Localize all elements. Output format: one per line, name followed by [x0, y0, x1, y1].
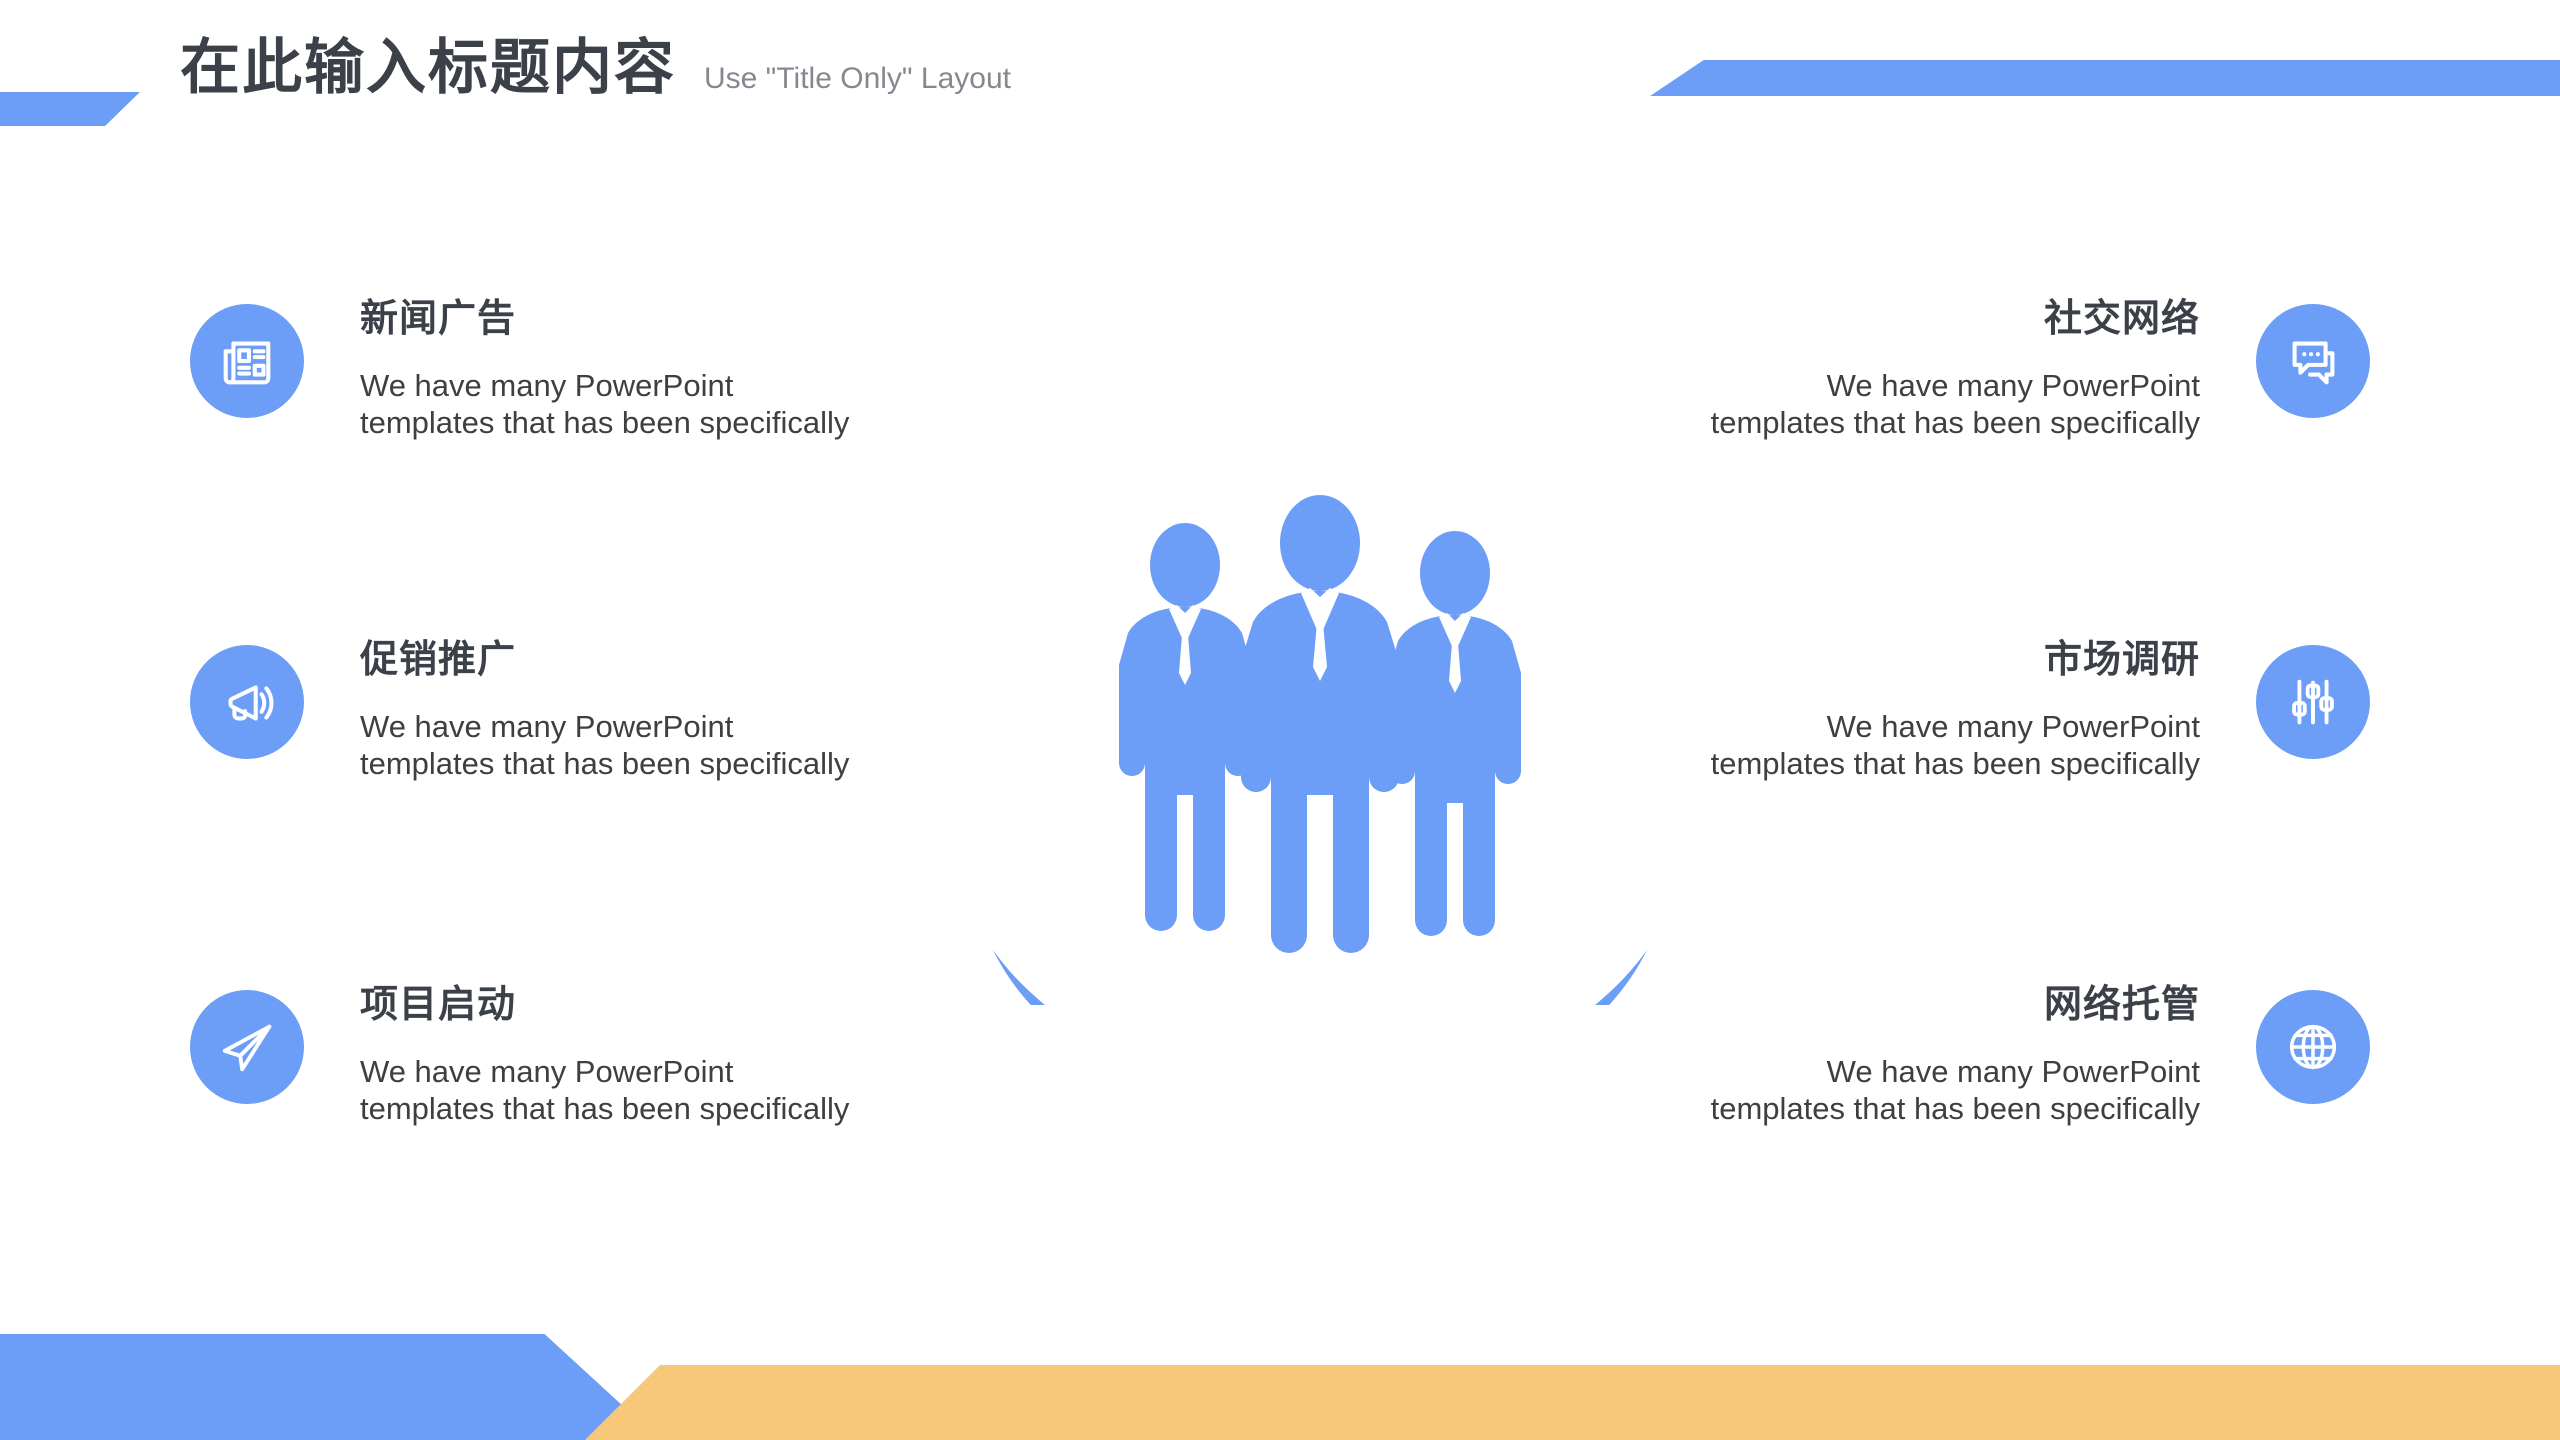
page-title: 在此输入标题内容 [180, 38, 676, 98]
feature-title: 项目启动 [360, 986, 950, 1024]
feature-body-line-1: We have many PowerPoint [1640, 709, 2200, 746]
feature-text-block: 网络托管 We have many PowerPoint templates t… [1610, 986, 2256, 1127]
feature-body-line-2: templates that has been specifically [360, 1091, 920, 1128]
feature-body-line-1: We have many PowerPoint [360, 1054, 920, 1091]
feature-body-line-1: We have many PowerPoint [360, 368, 920, 405]
feature-text-block: 社交网络 We have many PowerPoint templates t… [1610, 300, 2256, 441]
three-businessmen-team-graphic [985, 495, 1655, 1005]
feature-body: We have many PowerPoint templates that h… [1640, 368, 2200, 441]
feature-item-social-network[interactable]: 社交网络 We have many PowerPoint templates t… [1610, 300, 2370, 441]
feature-text-block: 市场调研 We have many PowerPoint templates t… [1610, 641, 2256, 782]
feature-title: 社交网络 [1610, 300, 2200, 338]
feature-item-web-hosting[interactable]: 网络托管 We have many PowerPoint templates t… [1610, 986, 2370, 1127]
feature-title: 促销推广 [360, 641, 950, 679]
feature-item-market-research[interactable]: 市场调研 We have many PowerPoint templates t… [1610, 641, 2370, 782]
top-left-blue-bar [0, 92, 140, 126]
feature-body: We have many PowerPoint templates that h… [1640, 709, 2200, 782]
feature-body: We have many PowerPoint templates that h… [360, 1054, 920, 1127]
feature-title: 市场调研 [1610, 641, 2200, 679]
sliders-icon [2256, 645, 2370, 759]
bottom-right-orange-bar [585, 1365, 2560, 1440]
top-right-blue-bar [1650, 60, 2560, 96]
feature-text-block: 促销推广 We have many PowerPoint templates t… [304, 641, 950, 782]
feature-body-line-1: We have many PowerPoint [1640, 368, 2200, 405]
feature-body-line-2: templates that has been specifically [1640, 746, 2200, 783]
feature-item-project-launch[interactable]: 项目启动 We have many PowerPoint templates t… [190, 986, 950, 1127]
feature-body: We have many PowerPoint templates that h… [1640, 1054, 2200, 1127]
feature-item-promotion[interactable]: 促销推广 We have many PowerPoint templates t… [190, 641, 950, 782]
feature-body-line-2: templates that has been specifically [1640, 405, 2200, 442]
feature-body-line-2: templates that has been specifically [360, 746, 920, 783]
feature-body-line-2: templates that has been specifically [1640, 1091, 2200, 1128]
feature-title: 新闻广告 [360, 300, 950, 338]
feature-body-line-2: templates that has been specifically [360, 405, 920, 442]
newspaper-icon [190, 304, 304, 418]
feature-text-block: 新闻广告 We have many PowerPoint templates t… [304, 300, 950, 441]
feature-body: We have many PowerPoint templates that h… [360, 368, 920, 441]
feature-text-block: 项目启动 We have many PowerPoint templates t… [304, 986, 950, 1127]
feature-title: 网络托管 [1610, 986, 2200, 1024]
feature-body: We have many PowerPoint templates that h… [360, 709, 920, 782]
page-subtitle: Use "Title Only" Layout [704, 64, 1011, 94]
bottom-left-blue-bar [0, 1334, 660, 1440]
megaphone-icon [190, 645, 304, 759]
feature-body-line-1: We have many PowerPoint [1640, 1054, 2200, 1091]
paper-plane-icon [190, 990, 304, 1104]
chat-bubbles-icon [2256, 304, 2370, 418]
slide-header: 在此输入标题内容 Use "Title Only" Layout [180, 38, 1011, 98]
feature-body-line-1: We have many PowerPoint [360, 709, 920, 746]
globe-icon [2256, 990, 2370, 1104]
slide-canvas: 在此输入标题内容 Use "Title Only" Layout 新闻广告 We… [0, 0, 2560, 1440]
feature-item-news-advertising[interactable]: 新闻广告 We have many PowerPoint templates t… [190, 300, 950, 441]
